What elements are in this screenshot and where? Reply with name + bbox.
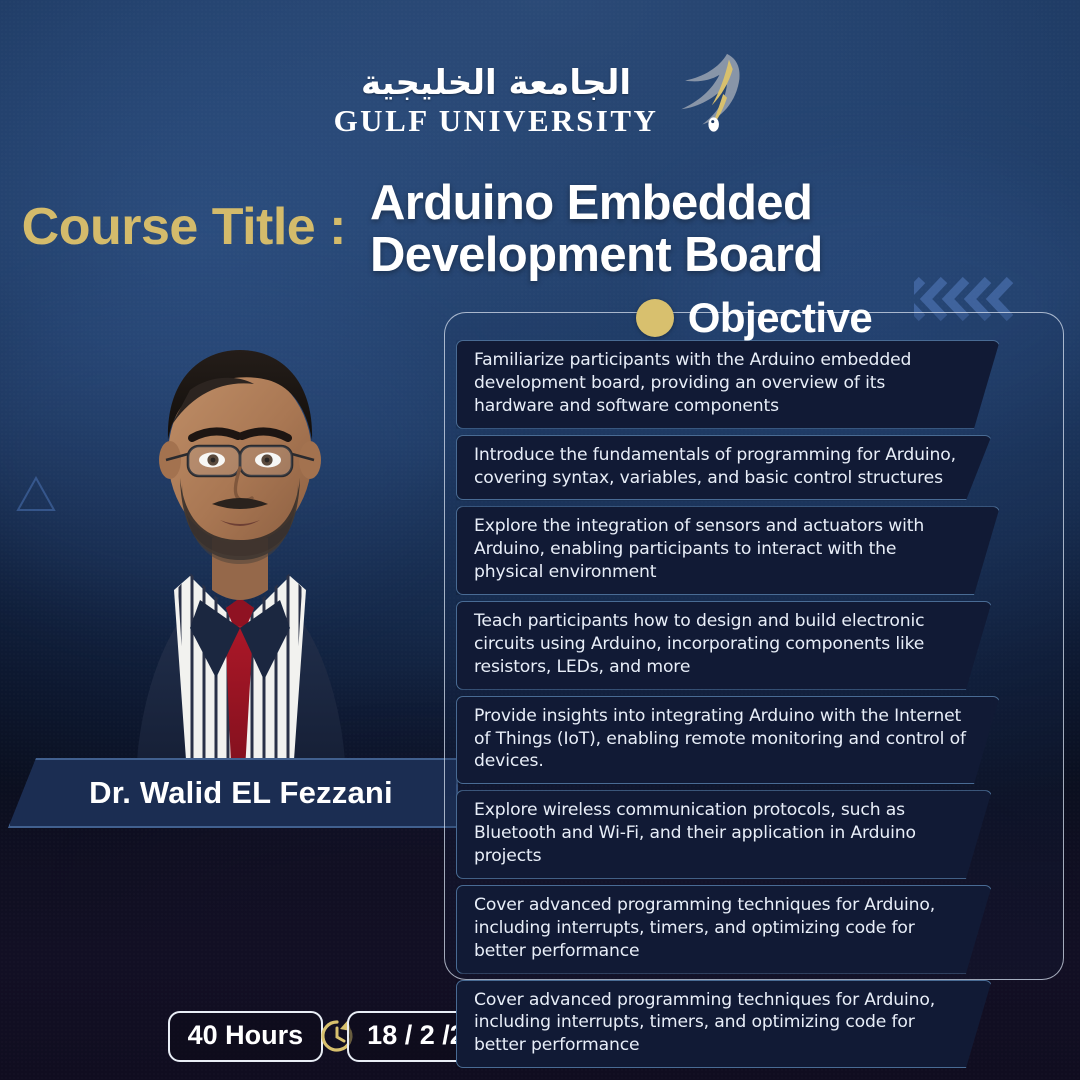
duration-badge[interactable]: 40 Hours — [168, 1011, 324, 1062]
objective-item-text: Introduce the fundamentals of programmin… — [474, 445, 956, 488]
list-item: Explore the integration of sensors and a… — [456, 506, 1000, 595]
course-title-value: Arduino Embedded Development Board — [370, 178, 823, 282]
list-item: Cover advanced programming techniques fo… — [456, 885, 992, 974]
course-title-line1: Arduino Embedded — [370, 178, 823, 230]
speaker-photo — [40, 288, 440, 778]
course-poster: الجامعة الخليجية GULF UNIVERSITY Course … — [0, 0, 1080, 1080]
gold-dot-icon — [636, 299, 674, 337]
duration-label: 40 Hours — [168, 1011, 324, 1062]
falcon-logo-icon — [668, 52, 746, 134]
objective-item-text: Teach participants how to design and bui… — [474, 611, 924, 677]
objective-item-text: Cover advanced programming techniques fo… — [474, 895, 935, 961]
course-title-row: Course Title : Arduino Embedded Developm… — [0, 178, 1080, 282]
list-item: Explore wireless communication protocols… — [456, 790, 992, 879]
university-logo: الجامعة الخليجية GULF UNIVERSITY — [0, 52, 1080, 136]
objective-header: Objective — [444, 290, 1064, 346]
course-title-label: Course Title : — [0, 178, 370, 255]
speaker-name: Dr. Walid EL Fezzani — [8, 758, 458, 828]
list-item: Teach participants how to design and bui… — [456, 601, 992, 690]
objective-item-text: Provide insights into integrating Arduin… — [474, 706, 966, 772]
list-item: Introduce the fundamentals of programmin… — [456, 435, 992, 501]
objective-heading: Objective — [688, 294, 873, 342]
list-item: Provide insights into integrating Arduin… — [456, 696, 1000, 785]
list-item: Cover advanced programming techniques fo… — [456, 980, 992, 1069]
objective-list: Familiarize participants with the Arduin… — [456, 340, 1056, 1068]
logo-english-name: GULF UNIVERSITY — [334, 105, 659, 136]
objective-item-text: Explore wireless communication protocols… — [474, 800, 916, 866]
objective-item-text: Cover advanced programming techniques fo… — [474, 990, 935, 1056]
course-title-line2: Development Board — [370, 230, 823, 282]
objective-item-text: Familiarize participants with the Arduin… — [474, 350, 911, 416]
objective-item-text: Explore the integration of sensors and a… — [474, 516, 924, 582]
speaker-name-banner: Dr. Walid EL Fezzani — [8, 758, 458, 828]
logo-arabic-name: الجامعة الخليجية — [334, 66, 659, 100]
list-item: Familiarize participants with the Arduin… — [456, 340, 1000, 429]
